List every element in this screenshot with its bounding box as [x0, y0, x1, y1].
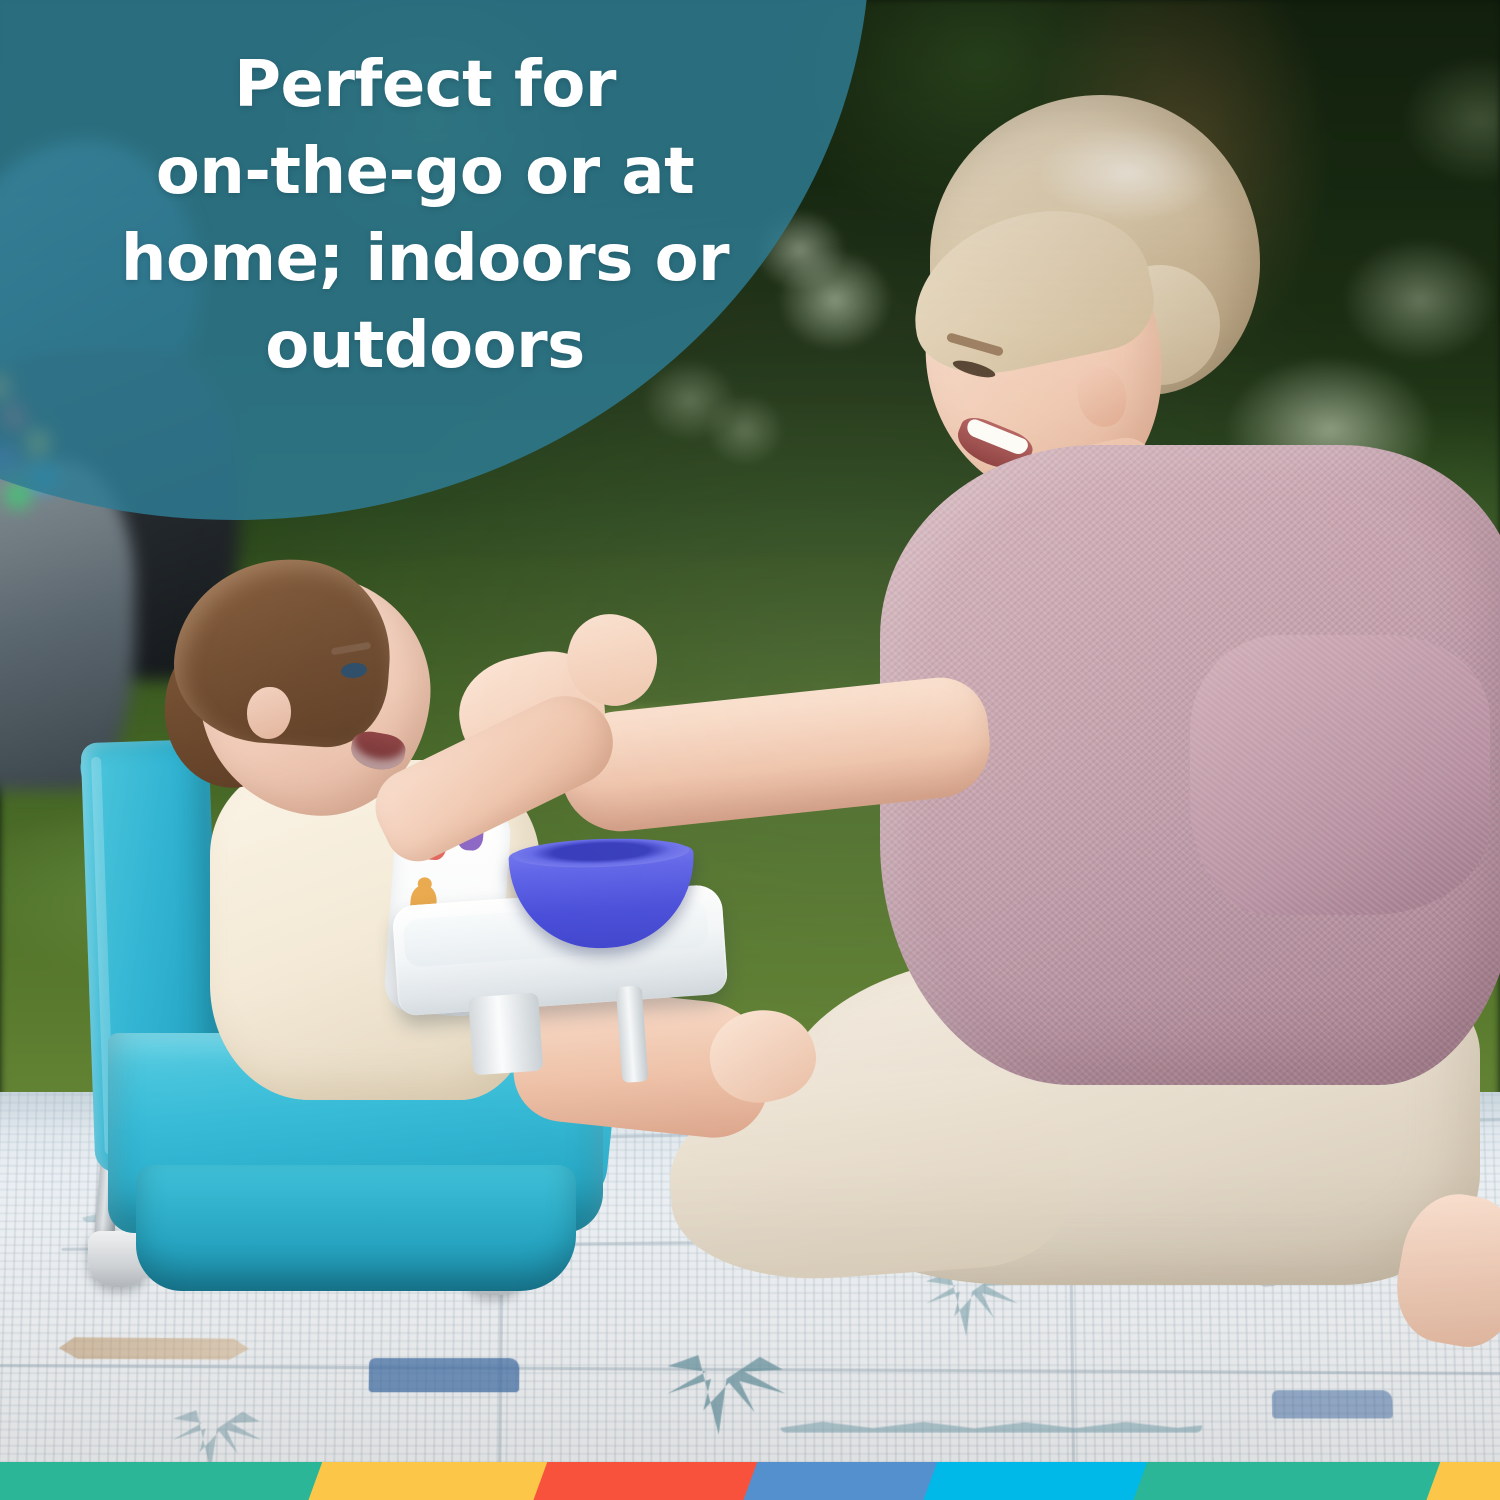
woman [760, 95, 1500, 1335]
play-mat-motif-car [369, 1358, 520, 1392]
brand-bar-segment-teal-green [0, 1462, 355, 1500]
play-mat-motif-car [1272, 1390, 1393, 1418]
woman-sleeve [1190, 635, 1490, 915]
tray-mount-post [468, 993, 543, 1076]
marketing-banner: nuby [0, 0, 1500, 1500]
brand-color-bar [0, 1462, 1500, 1500]
brand-bar-segment-teal-green [1130, 1462, 1465, 1500]
headline-text: Perfect for on-the-go or at home; indoor… [30, 42, 820, 390]
